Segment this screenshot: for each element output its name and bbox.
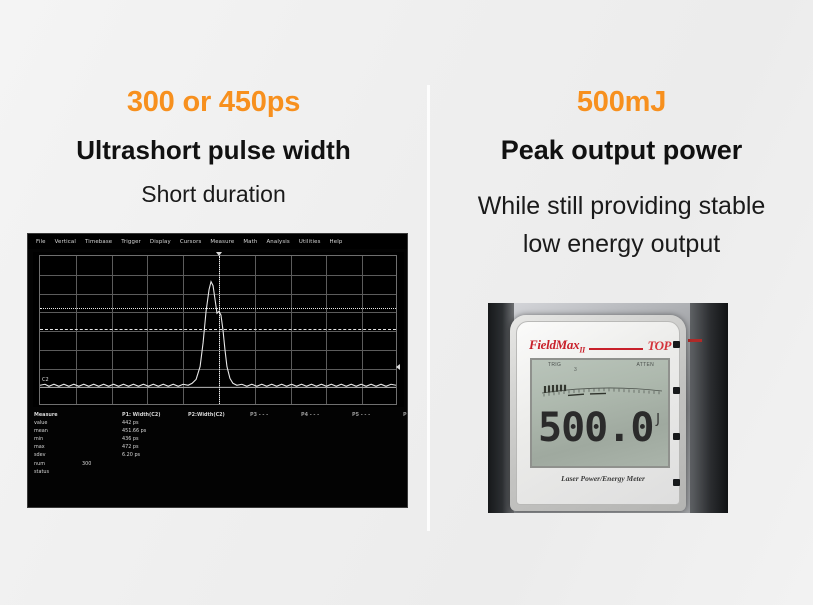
table-row: max 472 ps <box>34 443 403 451</box>
right-caption: While still providing stable low energy … <box>422 187 813 263</box>
row-value <box>122 468 188 476</box>
brand-name: FieldMaxII <box>529 337 585 355</box>
brand-subscript: II <box>579 346 585 355</box>
table-row: status <box>34 468 403 476</box>
scope-menu-bar: File Vertical Timebase Trigger Display C… <box>28 234 407 249</box>
row-label: max <box>34 443 82 451</box>
scope-menu-analysis[interactable]: Analysis <box>266 239 289 245</box>
table-row: mean 451.66 ps <box>34 427 403 435</box>
row-label: num <box>34 460 82 468</box>
meter-housing: FieldMaxII TOP TRIG ATTEN 3 <box>510 315 686 511</box>
row-value: 472 ps <box>122 443 188 451</box>
col-measure: Measure <box>34 411 82 419</box>
scope-menu-measure[interactable]: Measure <box>210 239 234 245</box>
scope-menu-trigger[interactable]: Trigger <box>121 239 141 245</box>
photo-right-shadow <box>690 303 728 513</box>
lcd-bargraph-scale <box>540 382 664 398</box>
row-value: 451.66 ps <box>122 427 188 435</box>
scope-menu-display[interactable]: Display <box>150 239 171 245</box>
col-p3: P3 - - - <box>250 411 301 419</box>
measurement-table: Measure P1: Width(C2) P2:Width(C2) P3 - … <box>34 411 403 503</box>
row-value: 6.20 ps <box>122 451 188 459</box>
row-value: 436 ps <box>122 435 188 443</box>
scope-menu-vertical[interactable]: Vertical <box>55 239 76 245</box>
col-p1: P1: Width(C2) <box>122 411 188 419</box>
scope-menu-file[interactable]: File <box>36 239 46 245</box>
left-headline: 300 or 450ps <box>0 86 427 119</box>
lcd-atten-indicator: ATTEN <box>636 362 654 368</box>
row-label: sdev <box>34 451 82 459</box>
oscilloscope-screenshot: File Vertical Timebase Trigger Display C… <box>27 233 408 508</box>
fieldmax-energy-meter-photo: FieldMaxII TOP TRIG ATTEN 3 <box>488 303 728 513</box>
measurement-table-header: Measure P1: Width(C2) P2:Width(C2) P3 - … <box>34 411 403 419</box>
table-row: value 442 ps <box>34 419 403 427</box>
col-p6: P6 - - - <box>403 411 408 419</box>
table-row: min 436 ps <box>34 435 403 443</box>
table-row: sdev 6.20 ps <box>34 451 403 459</box>
col-p2: P2:Width(C2) <box>188 411 250 419</box>
scope-menu-math[interactable]: Math <box>243 239 257 245</box>
right-caption-line2: low energy output <box>422 225 813 263</box>
waveform-trace <box>40 256 396 404</box>
screw-icon <box>673 433 680 440</box>
lcd-trig-indicator: TRIG <box>548 362 561 368</box>
lcd-unit: J <box>656 412 660 427</box>
right-caption-line1: While still providing stable <box>422 187 813 225</box>
screw-icon <box>673 479 680 486</box>
lcd-annunciators: TRIG ATTEN <box>532 362 668 372</box>
meter-side-screws <box>670 335 680 505</box>
brand-logo: TOP <box>647 338 671 354</box>
row-label: mean <box>34 427 82 435</box>
row-label: value <box>34 419 82 427</box>
left-panel: 300 or 450ps Ultrashort pulse width Shor… <box>0 0 427 605</box>
meter-caption: Laser Power/Energy Meter <box>527 474 679 483</box>
row-label: status <box>34 468 82 476</box>
row-label: min <box>34 435 82 443</box>
red-stripe-decal <box>688 339 702 342</box>
scope-menu-timebase[interactable]: Timebase <box>85 239 112 245</box>
left-subhead: Ultrashort pulse width <box>0 135 427 166</box>
row-num-value: 300 <box>82 460 122 468</box>
meter-branding: FieldMaxII TOP <box>529 338 671 354</box>
scope-menu-help[interactable]: Help <box>330 239 343 245</box>
scope-menu-utilities[interactable]: Utilities <box>299 239 321 245</box>
meter-bezel: FieldMaxII TOP TRIG ATTEN 3 <box>516 321 680 505</box>
right-subhead: Peak output power <box>430 135 813 166</box>
channel-offset-marker-icon[interactable] <box>396 364 400 370</box>
lcd-display: TRIG ATTEN 3 <box>530 358 670 468</box>
screw-icon <box>673 387 680 394</box>
right-headline: 500mJ <box>430 86 813 119</box>
col-p5: P5 - - - <box>352 411 403 419</box>
table-row: num 300 <box>34 460 403 468</box>
lcd-reading: 500.0 <box>538 406 666 450</box>
screw-icon <box>673 341 680 348</box>
col-p4: P4 - - - <box>301 411 352 419</box>
lcd-small-digit: 3 <box>574 367 577 373</box>
left-caption: Short duration <box>0 181 427 208</box>
row-value: 442 ps <box>122 419 188 427</box>
scope-menu-cursors[interactable]: Cursors <box>180 239 202 245</box>
scope-graticule-area: C2 <box>33 252 404 407</box>
brand-rule <box>589 348 643 350</box>
scope-graticule: C2 <box>39 255 397 405</box>
slide-root: 300 or 450ps Ultrashort pulse width Shor… <box>0 0 813 605</box>
